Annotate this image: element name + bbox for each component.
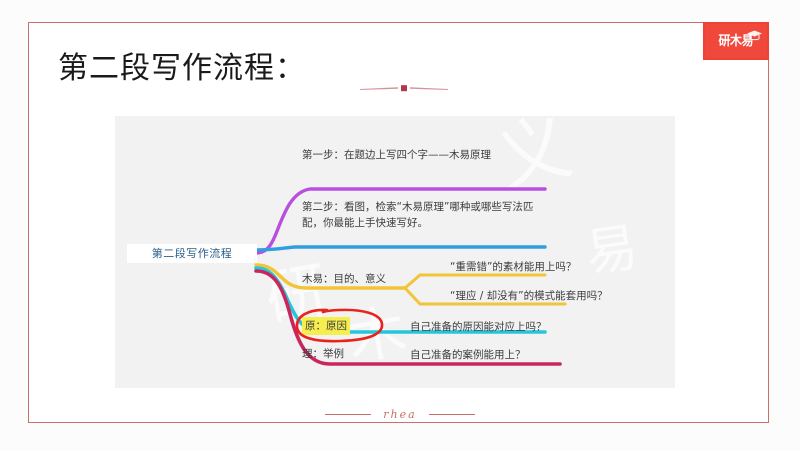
footer: rhea xyxy=(0,408,800,421)
mindmap-node-muyi: 木易：目的、意义 xyxy=(302,271,386,287)
diamond-divider-icon xyxy=(360,82,448,94)
graduation-cap-icon xyxy=(746,29,763,42)
mindmap-node-yuan: 原：原因 xyxy=(302,317,350,335)
mindmap-node-q1: “重需错”的素材能用上吗？ xyxy=(450,259,576,275)
brand-logo: 研木易 xyxy=(703,22,769,60)
mindmap-node-step1: 第一步：在题边上写四个字——木易原理 xyxy=(302,147,537,163)
mindmap-node-li: 理：举例 xyxy=(302,346,344,362)
brand-logo-inner: 研木易 xyxy=(705,24,767,58)
footer-line-right xyxy=(429,414,475,415)
mindmap-node-q2: “理应 / 却没有”的模式能套用吗？ xyxy=(450,288,608,304)
mindmap-node-q4: 自己准备的案例能用上？ xyxy=(410,347,526,363)
page-title: 第二段写作流程： xyxy=(58,43,306,87)
branch-line-step2 xyxy=(256,247,545,250)
mindmap-center-node: 第二段写作流程 xyxy=(127,244,257,263)
footer-text: rhea xyxy=(383,408,416,421)
slide-canvas: 研木易 第二段写作流程： 义 研 木 易 xyxy=(0,0,800,450)
mindmap-node-q3: 自己准备的原因能对应上吗？ xyxy=(410,319,547,335)
footer-line-left xyxy=(325,414,371,415)
mindmap-node-step2: 第二步：看图，检索“木易原理”哪种或哪些写法匹配，你最能上手快速写好。 xyxy=(302,199,539,231)
branch-line-q1 xyxy=(405,275,545,288)
mindmap-container: 义 研 木 易 第一步：在题边上写四个字——木易原理 第二步：看图，检索“木易原… xyxy=(115,116,675,388)
